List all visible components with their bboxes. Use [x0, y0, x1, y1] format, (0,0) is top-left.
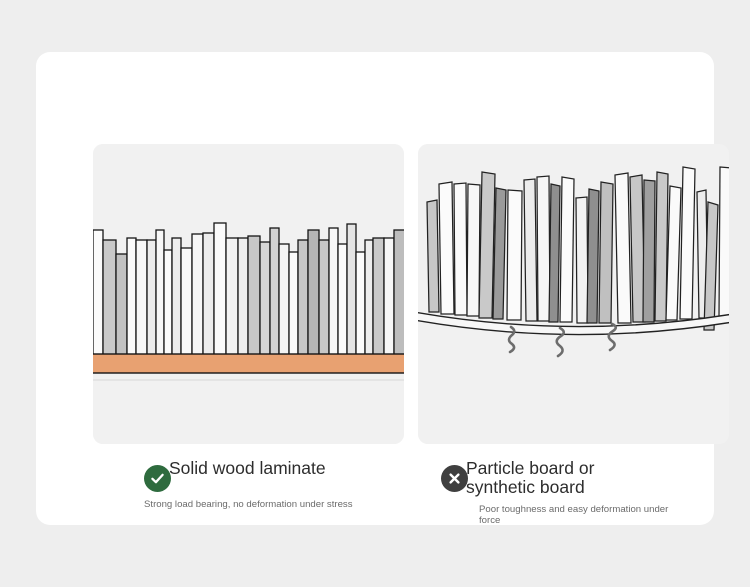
- content-card: Solid wood laminate Strong load bearing,…: [36, 52, 714, 525]
- cross-circle-icon: [441, 465, 468, 492]
- solid-wood-shelf: [93, 354, 404, 373]
- panel-particle-board: [418, 144, 729, 444]
- caption-solid-wood: Solid wood laminate Strong load bearing,…: [144, 457, 444, 510]
- panel-solid-wood: [93, 144, 404, 444]
- caption-row: Solid wood laminate Strong load bearing,…: [93, 457, 729, 547]
- page-background: Solid wood laminate Strong load bearing,…: [0, 0, 750, 587]
- caption-title: Particle board or synthetic board: [466, 459, 666, 497]
- caption-particle-board: Particle board or synthetic board Poor t…: [441, 457, 741, 526]
- caption-head: Solid wood laminate: [144, 457, 444, 492]
- illustration-panels: [93, 144, 729, 444]
- caption-title: Solid wood laminate: [169, 459, 326, 478]
- card-top-notch: [128, 82, 214, 112]
- caption-head: Particle board or synthetic board: [441, 457, 741, 497]
- caption-subtitle: Strong load bearing, no deformation unde…: [144, 499, 354, 510]
- check-circle-icon: [144, 465, 171, 492]
- caption-subtitle: Poor toughness and easy deformation unde…: [479, 504, 689, 526]
